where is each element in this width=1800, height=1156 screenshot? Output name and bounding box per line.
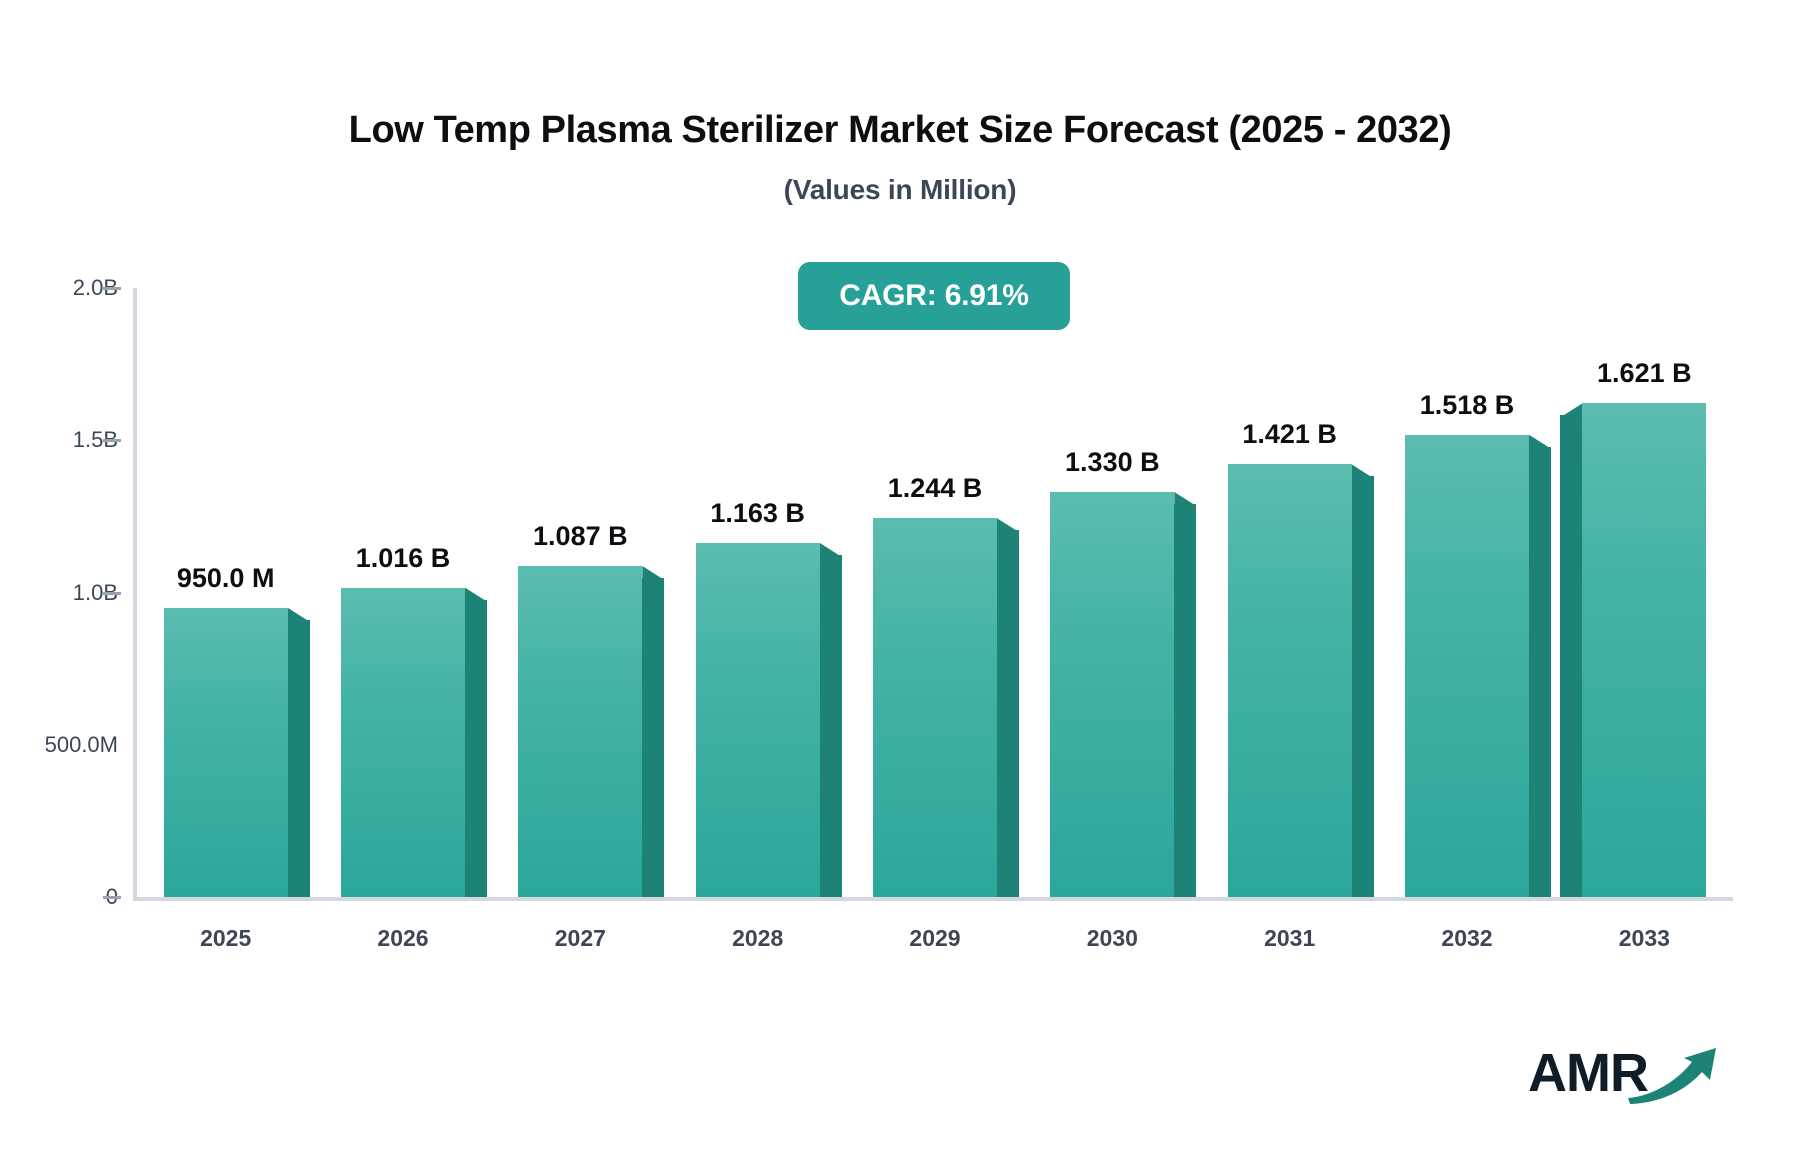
bar[interactable]: 1.016 B2026 (341, 588, 465, 897)
x-axis-line (133, 897, 1733, 901)
x-axis-tick-label: 2029 (909, 925, 960, 952)
bar-front-face (696, 543, 820, 897)
bar[interactable]: 1.163 B2028 (696, 543, 820, 897)
bar-side-face (642, 578, 664, 897)
bar-value-label: 1.621 B (1597, 358, 1692, 389)
bar-value-label: 1.016 B (356, 543, 451, 574)
y-axis-tick-mark (103, 287, 121, 290)
bar-front-face (1228, 464, 1352, 897)
bar-top-bevel (288, 608, 310, 622)
bar-front-face (1582, 403, 1706, 897)
bar-side-face (820, 555, 842, 897)
bar-side-face (465, 600, 487, 897)
bar-value-label: 1.244 B (888, 473, 983, 504)
rising-arrow-icon (1626, 1046, 1726, 1111)
amr-logo: AMR (1528, 1040, 1728, 1120)
bar[interactable]: 1.330 B2030 (1050, 492, 1174, 897)
x-axis-tick-label: 2027 (555, 925, 606, 952)
bar-front-face (873, 518, 997, 897)
bar-side-face (1174, 504, 1196, 897)
x-axis-tick-label: 2033 (1619, 925, 1670, 952)
bar[interactable]: 1.518 B2032 (1405, 435, 1529, 897)
bar-value-label: 1.421 B (1242, 419, 1337, 450)
x-axis-tick-label: 2031 (1264, 925, 1315, 952)
bar[interactable]: 1.421 B2031 (1228, 464, 1352, 897)
x-axis-tick-label: 2026 (377, 925, 428, 952)
bar-chart-plot-area: 0500.0M1.0B1.5B2.0B 950.0 M20251.016 B20… (0, 0, 1800, 1156)
bar-top-bevel (820, 543, 842, 557)
bar-top-bevel (997, 518, 1019, 532)
bar[interactable]: 950.0 M2025 (164, 608, 288, 897)
x-axis-tick-label: 2025 (200, 925, 251, 952)
bar-front-face (164, 608, 288, 897)
bar-value-label: 950.0 M (177, 563, 275, 594)
bar-front-face (341, 588, 465, 897)
bar-value-label: 1.330 B (1065, 447, 1160, 478)
bar-side-face (1529, 447, 1551, 897)
bar-value-label: 1.518 B (1420, 390, 1515, 421)
bar-side-face (1352, 476, 1374, 897)
y-axis-line (133, 288, 137, 901)
bar-front-face (1405, 435, 1529, 897)
bar-side-face (1560, 415, 1582, 897)
bar[interactable]: 1.621 B2033 (1582, 403, 1706, 897)
bar[interactable]: 1.087 B2027 (518, 566, 642, 897)
bar-top-bevel (1529, 435, 1551, 449)
bar-top-bevel (1174, 492, 1196, 506)
bar-side-face (288, 620, 310, 897)
y-axis-tick-label: 500.0M (45, 732, 118, 758)
bar-top-bevel (642, 566, 664, 580)
bar-front-face (518, 566, 642, 897)
bar-front-face (1050, 492, 1174, 897)
bar-value-label: 1.163 B (710, 498, 805, 529)
bar-side-face (997, 530, 1019, 897)
bar-top-bevel (1560, 403, 1582, 417)
y-axis-tick-mark (103, 896, 121, 899)
x-axis-tick-label: 2028 (732, 925, 783, 952)
bar-value-label: 1.087 B (533, 521, 628, 552)
y-axis-tick-mark (103, 592, 121, 595)
bar[interactable]: 1.244 B2029 (873, 518, 997, 897)
y-axis-tick-mark (103, 439, 121, 442)
bar-top-bevel (465, 588, 487, 602)
x-axis-tick-label: 2030 (1087, 925, 1138, 952)
x-axis-tick-label: 2032 (1441, 925, 1492, 952)
bar-top-bevel (1352, 464, 1374, 478)
